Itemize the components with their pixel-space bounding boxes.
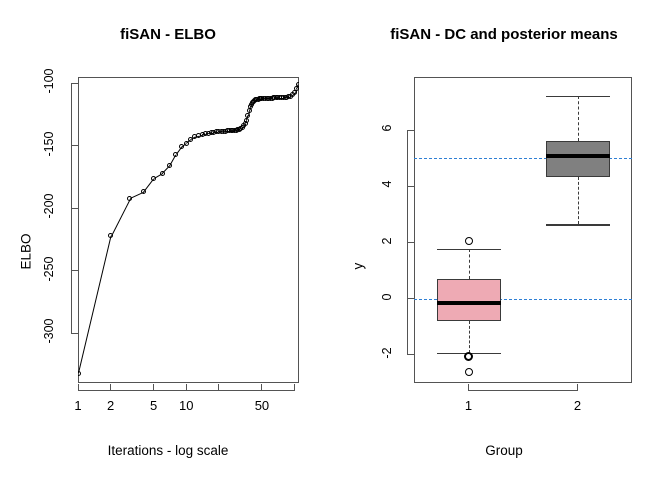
elbo-y-tick [71,270,78,271]
boxplot-y-tick-label: 0 [380,282,394,312]
boxplot-y-tick [407,130,414,131]
whisker-upper [469,249,470,279]
boxplot-y-tick-label: 6 [380,113,394,143]
elbo-data-point [151,176,156,181]
boxplot-boxes [414,77,632,383]
median-line-1 [437,301,501,305]
elbo-y-tick [71,83,78,84]
elbo-x-tick [294,384,295,391]
elbo-x-tick [261,384,262,391]
boxplot-y-tick-label: 4 [380,169,394,199]
elbo-data-point [141,189,146,194]
elbo-y-tick-label: -150 [42,127,56,161]
boxplot-panel-title: fiSAN - DC and posterior means [336,26,672,43]
elbo-x-tick-label: 50 [237,398,287,413]
elbo-data-point [160,171,165,176]
boxplot-x-tick-label: 2 [553,398,603,413]
elbo-x-axis-title: Iterations - log scale [0,443,336,458]
outlier-point [465,237,473,245]
elbo-panel-title: fiSAN - ELBO [0,26,336,43]
whisker-cap-upper [437,249,501,250]
elbo-x-tick [218,384,219,391]
boxplot-y-tick [407,354,414,355]
elbo-y-tick [71,145,78,146]
elbo-data-point [167,163,172,168]
elbo-data-point [127,196,132,201]
boxplot-y-tick-label: -2 [380,338,394,368]
elbo-data-point [179,144,184,149]
elbo-data-point [296,82,299,87]
box-2 [546,141,610,177]
elbo-line-segment [111,198,131,236]
boxplot-y-tick [407,186,414,187]
boxplot-y-tick [407,298,414,299]
elbo-x-tick [78,384,79,391]
boxplot-y-axis-title: y [351,190,366,270]
boxplot-x-axis-line [469,390,578,391]
figure-root: fiSAN - ELBO ELBO -300-250-200-150-100 1… [0,0,672,480]
elbo-data-point [244,118,249,123]
elbo-x-tick [186,384,187,391]
elbo-data-point [245,113,250,118]
elbo-y-axis-title: ELBO [19,190,34,270]
boxplot-x-tick [577,384,578,391]
median-line-2 [546,154,610,158]
elbo-data-point [173,152,178,157]
elbo-data-point [294,86,299,91]
elbo-y-tick-label: -300 [42,314,56,348]
whisker-upper [578,96,579,141]
elbo-x-tick [153,384,154,391]
outlier-point [465,368,473,376]
whisker-lower [469,321,470,353]
elbo-y-tick [71,208,78,209]
elbo-x-tick-label: 10 [161,398,211,413]
elbo-y-tick-label: -200 [42,189,56,223]
elbo-y-tick [71,333,78,334]
whisker-lower [578,177,579,225]
boxplot-y-tick-label: 2 [380,226,394,256]
whisker-cap-lower [546,224,610,225]
elbo-series [78,77,299,383]
boxplot-y-tick [407,242,414,243]
whisker-cap-upper [546,96,610,97]
boxplot-x-axis-title: Group [336,443,672,458]
elbo-x-tick [110,384,111,391]
elbo-y-tick-label: -250 [42,252,56,286]
boxplot-panel: fiSAN - DC and posterior means y -20246 … [336,0,672,480]
elbo-y-tick-label: -100 [42,64,56,98]
box-1 [437,279,501,321]
elbo-data-point [108,233,113,238]
elbo-line-segment [78,236,112,374]
boxplot-x-tick [468,384,469,391]
elbo-data-point [78,371,81,376]
elbo-panel: fiSAN - ELBO ELBO -300-250-200-150-100 1… [0,0,336,480]
boxplot-x-tick-label: 1 [444,398,494,413]
outlier-point [464,352,473,361]
